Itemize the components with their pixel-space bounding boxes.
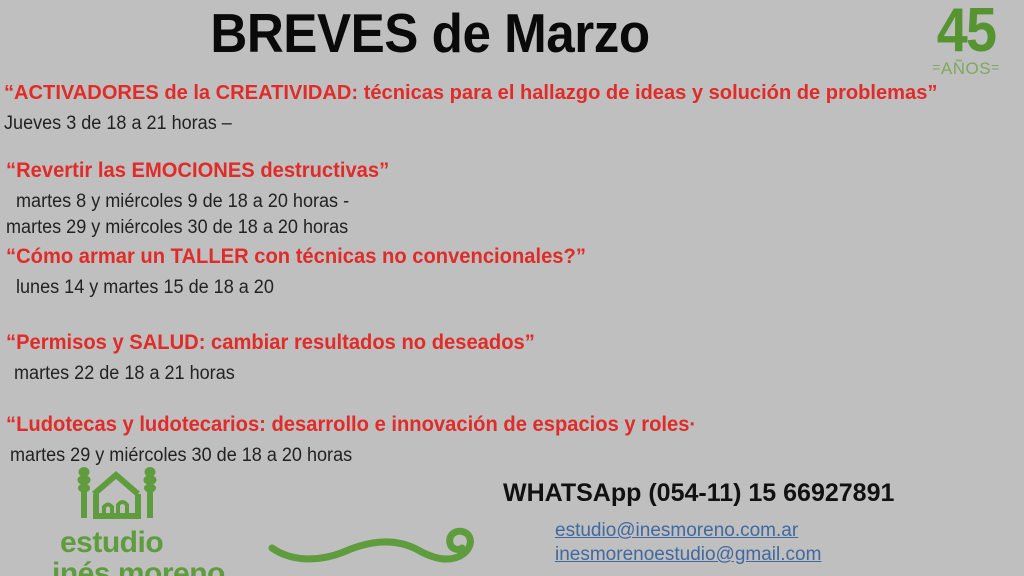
program-entry-title: “Permisos y SALUD: cambiar resultados no…	[6, 328, 535, 358]
anniversary-number: 45	[919, 0, 1013, 62]
logo-text-line-1: estudio	[60, 527, 272, 558]
page-title: BREVES de Marzo	[30, 2, 830, 64]
email-list: estudio@inesmoreno.com.ar inesmorenoestu…	[555, 519, 821, 567]
email-link-1[interactable]: estudio@inesmoreno.com.ar	[555, 519, 821, 543]
house-with-trees-icon	[62, 466, 272, 527]
program-entry-schedule: martes 8 y miércoles 9 de 18 a 20 horas …	[16, 188, 349, 216]
poster-canvas: BREVES de Marzo 45 =AÑOS= “ACTIVADORES d…	[0, 0, 1024, 576]
program-entry-title: “Ludotecas y ludotecarios: desarrollo e …	[6, 410, 696, 440]
email-link-2[interactable]: inesmorenoestudio@gmail.com	[555, 543, 821, 567]
anniversary-badge: 45 =AÑOS=	[914, 0, 1018, 78]
program-entry-schedule: lunes 14 y martes 15 de 18 a 20	[16, 274, 274, 302]
brand-logo: estudio inés moreno	[52, 466, 272, 576]
program-entry-schedule: martes 29 y miércoles 30 de 18 a 20 hora…	[6, 214, 348, 242]
logo-text-line-2: inés moreno	[52, 558, 272, 576]
program-entry-schedule: Jueves 3 de 18 a 21 horas –	[4, 110, 232, 138]
whatsapp-contact: WHATSApp (054-11) 15 66927891	[503, 478, 894, 508]
program-entry-title: “Cómo armar un TALLER con técnicas no co…	[6, 242, 586, 272]
program-entry-title: “Revertir las EMOCIONES destructivas”	[6, 156, 389, 186]
swirl-flourish-icon	[268, 524, 498, 573]
program-entry-title: “ACTIVADORES de la CREATIVIDAD: técnicas…	[4, 78, 937, 108]
program-entry-schedule: martes 22 de 18 a 21 horas	[14, 360, 235, 388]
